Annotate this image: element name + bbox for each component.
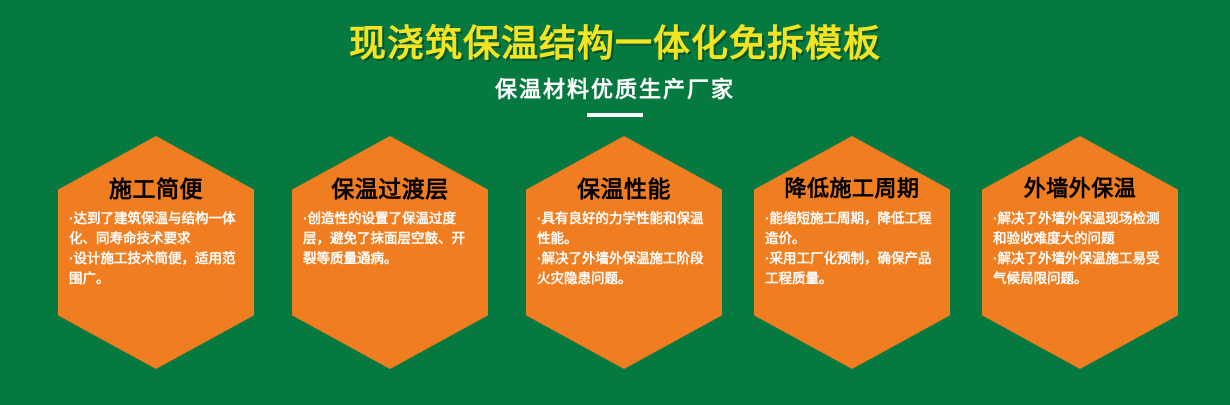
feature-body: ·解决了外墙外保温现场检测和验收难度大的问题·解决了外墙外保温施工易受气候局限问… [990,204,1170,289]
page-title: 现浇筑保温结构一体化免拆模板 [0,0,1230,66]
feature-title: 外墙外保温 [990,136,1170,204]
feature-title: 降低施工周期 [762,136,942,204]
page-subtitle: 保温材料优质生产厂家 [0,66,1230,104]
feature-body: ·创造性的设置了保温过度层，避免了抹面层空鼓、开裂等质量通病。 [300,204,480,269]
feature-hexagon-1[interactable]: 施工简便 ·达到了建筑保温与结构一体化、同寿命技术要求·设计施工技术简便，适用范… [58,136,254,369]
feature-body: ·具有良好的力学性能和保温性能。·解决了外墙外保温施工阶段火灾隐患问题。 [534,204,714,289]
feature-title: 保温过渡层 [300,136,480,204]
feature-hexagon-2[interactable]: 保温过渡层 ·创造性的设置了保温过度层，避免了抹面层空鼓、开裂等质量通病。 [292,136,488,369]
promo-banner: 现浇筑保温结构一体化免拆模板 保温材料优质生产厂家 施工简便 ·达到了建筑保温与… [0,0,1230,405]
title-divider [587,113,643,117]
feature-title: 施工简便 [66,136,246,204]
feature-body: ·达到了建筑保温与结构一体化、同寿命技术要求·设计施工技术简便，适用范围广。 [66,204,246,289]
banner-header: 现浇筑保温结构一体化免拆模板 保温材料优质生产厂家 [0,0,1230,117]
feature-hexagon-3[interactable]: 保温性能 ·具有良好的力学性能和保温性能。·解决了外墙外保温施工阶段火灾隐患问题… [526,136,722,369]
feature-hexagon-4[interactable]: 降低施工周期 ·能缩短施工周期，降低工程造价。·采用工厂化预制，确保产品工程质量… [754,136,950,369]
feature-title: 保温性能 [534,136,714,204]
feature-body: ·能缩短施工周期，降低工程造价。·采用工厂化预制，确保产品工程质量。 [762,204,942,289]
feature-hexagon-row: 施工简便 ·达到了建筑保温与结构一体化、同寿命技术要求·设计施工技术简便，适用范… [0,136,1230,376]
feature-hexagon-5[interactable]: 外墙外保温 ·解决了外墙外保温现场检测和验收难度大的问题·解决了外墙外保温施工易… [982,136,1178,369]
